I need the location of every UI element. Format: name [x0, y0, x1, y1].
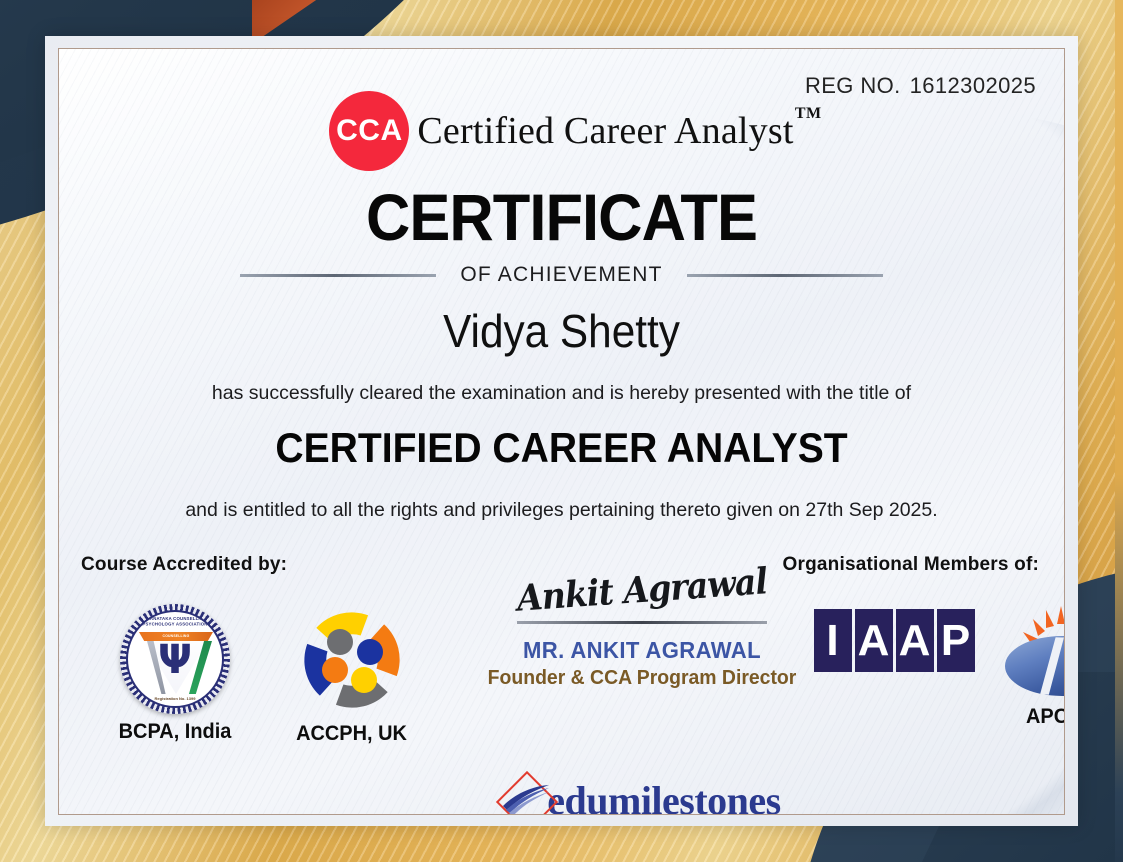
signatory-name: MR. ANKIT AGRAWAL	[464, 637, 819, 664]
bcpa-ring-text: KARNATAKA COUNSELLING PSYCHOLOGY ASSOCIA…	[128, 616, 222, 627]
logo-accph: ACCPH, UK	[264, 604, 439, 746]
logo-bcpa: KARNATAKA COUNSELLING PSYCHOLOGY ASSOCIA…	[95, 604, 255, 744]
certificate-content: REG NO.1612302025 CCA Certified Career A…	[59, 49, 1064, 814]
bcpa-seal-inner: KARNATAKA COUNSELLING PSYCHOLOGY ASSOCIA…	[126, 610, 224, 708]
logo-apcda: APCDA	[984, 604, 1065, 729]
psi-icon: Ψ	[128, 640, 222, 680]
iaap-letter-2: A	[855, 609, 893, 672]
logo-iaap: I A A P	[804, 609, 984, 672]
brand-lockup: CCA Certified Career Analyst TM	[59, 91, 1064, 171]
signature-block: Ankit Agrawal MR. ANKIT AGRAWAL Founder …	[457, 569, 827, 690]
iaap-letter-4: P	[937, 609, 975, 672]
award-title: CERTIFIED CAREER ANALYST	[94, 424, 1029, 472]
certificate-page: REG NO.1612302025 CCA Certified Career A…	[0, 0, 1123, 862]
brand-name: Certified Career Analyst TM	[395, 109, 793, 153]
bcpa-caption: BCPA, India	[99, 720, 251, 744]
right-edge-strip	[1115, 0, 1123, 862]
trademark-icon: TM	[795, 105, 822, 123]
certificate-paper: REG NO.1612302025 CCA Certified Career A…	[58, 48, 1065, 815]
page-subtitle: OF ACHIEVEMENT	[460, 263, 662, 287]
brand-name-text: Certified Career Analyst	[417, 110, 793, 152]
signature-line	[517, 621, 767, 624]
bcpa-seal-icon: KARNATAKA COUNSELLING PSYCHOLOGY ASSOCIA…	[120, 604, 230, 714]
divider-left	[240, 274, 436, 277]
accph-svg	[296, 604, 408, 716]
signatory-role: Founder & CCA Program Director	[463, 667, 822, 690]
apcda-caption: APCDA	[988, 705, 1065, 729]
subtitle-row: OF ACHIEVEMENT	[59, 263, 1064, 287]
accph-caption: ACCPH, UK	[268, 722, 434, 746]
apcda-mark-icon	[997, 604, 1066, 699]
divider-right	[687, 274, 883, 277]
logo-edumilestones: edumilestones	[489, 772, 789, 815]
iaap-letter-blocks-icon: I A A P	[804, 609, 984, 672]
accredited-by-label: Course Accredited by:	[81, 554, 287, 576]
page-title: CERTIFICATE	[94, 179, 1029, 255]
body-line-1: has successfully cleared the examination…	[59, 382, 1064, 405]
iaap-letter-3: A	[896, 609, 934, 672]
bcpa-registration-text: Registration No. 1399	[128, 696, 222, 701]
iaap-letter-1: I	[814, 609, 852, 672]
signature-script: Ankit Agrawal	[471, 557, 814, 623]
edumilestones-swoosh-icon	[497, 772, 553, 815]
cca-badge-icon: CCA	[329, 91, 409, 171]
edumilestones-text: edumilestones	[547, 777, 781, 816]
edumilestones-mark-icon	[497, 772, 553, 815]
accph-pinwheel-icon	[296, 604, 408, 716]
recipient-name: Vidya Shetty	[99, 304, 1024, 358]
body-line-2: and is entitled to all the rights and pr…	[59, 499, 1064, 522]
